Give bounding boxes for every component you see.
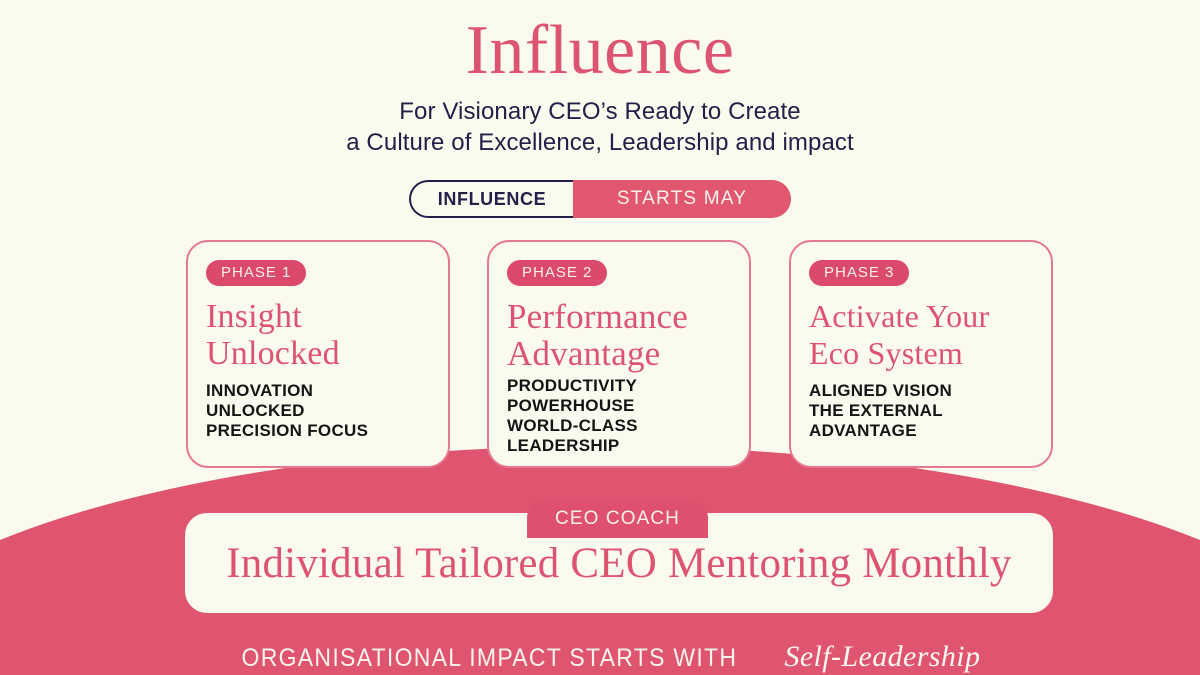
subtitle-line-1: For Visionary CEO’s Ready to Create — [0, 96, 1200, 127]
ceo-coach-headline: Individual Tailored CEO Mentoring Monthl… — [226, 539, 1011, 588]
phase-heading-line-2: Eco System — [809, 335, 1033, 372]
phase-bullet: UNLOCKED — [206, 401, 430, 421]
ceo-coach-badge: CEO COACH — [527, 500, 708, 538]
phase-card[interactable]: PHASE 1 Insight Unlocked INNOVATION UNLO… — [186, 240, 450, 468]
phase-card-group: PHASE 1 Insight Unlocked INNOVATION UNLO… — [0, 240, 1200, 468]
footer-main-text: ORGANISATIONAL IMPACT STARTS WITH — [241, 644, 737, 673]
phase-badge: PHASE 1 — [206, 260, 306, 286]
cta-pill[interactable]: INFLUENCE STARTS MAY — [409, 180, 791, 218]
phase-badge: PHASE 2 — [507, 260, 607, 286]
phase-card[interactable]: PHASE 3 Activate Your Eco System ALIGNED… — [789, 240, 1053, 468]
phase-heading: Insight Unlocked — [206, 298, 430, 372]
cta-influence-label[interactable]: INFLUENCE — [409, 180, 573, 218]
poster-canvas: Influence For Visionary CEO’s Ready to C… — [0, 0, 1200, 675]
phase-badge: PHASE 3 — [809, 260, 909, 286]
phase-bullets: INNOVATION UNLOCKED PRECISION FOCUS — [206, 381, 430, 441]
phase-heading-line-1: Insight — [206, 298, 430, 335]
phase-heading: Activate Your Eco System — [809, 298, 1033, 372]
page-title: Influence — [0, 8, 1200, 94]
phase-bullet: WORLD-CLASS — [507, 416, 731, 436]
phase-bullet: THE EXTERNAL — [809, 401, 1033, 421]
phase-bullets: PRODUCTIVITY POWERHOUSE WORLD-CLASS LEAD… — [507, 376, 731, 456]
footer-tagline: ORGANISATIONAL IMPACT STARTS WITH Self-L… — [0, 640, 1200, 674]
footer-accent-text: Self-Leadership — [784, 640, 980, 674]
phase-card[interactable]: PHASE 2 Performance Advantage PRODUCTIVI… — [487, 240, 751, 468]
phase-bullet: ALIGNED VISION — [809, 381, 1033, 401]
phase-heading-line-1: Performance — [507, 298, 731, 335]
phase-bullet: PRODUCTIVITY — [507, 376, 731, 396]
phase-bullet: INNOVATION — [206, 381, 430, 401]
phase-bullet: POWERHOUSE — [507, 396, 731, 416]
phase-bullets: ALIGNED VISION THE EXTERNAL ADVANTAGE — [809, 381, 1033, 441]
phase-bullet: ADVANTAGE — [809, 421, 1033, 441]
subtitle-line-2: a Culture of Excellence, Leadership and … — [0, 127, 1200, 158]
phase-heading-line-1: Activate Your — [809, 298, 1033, 335]
phase-heading-line-2: Advantage — [507, 335, 731, 372]
cta-starts-may-label[interactable]: STARTS MAY — [573, 180, 791, 218]
phase-heading-line-2: Unlocked — [206, 335, 430, 372]
phase-bullet: LEADERSHIP — [507, 436, 731, 456]
phase-bullet: PRECISION FOCUS — [206, 421, 430, 441]
page-subtitle: For Visionary CEO’s Ready to Create a Cu… — [0, 96, 1200, 158]
phase-heading: Performance Advantage — [507, 298, 731, 372]
